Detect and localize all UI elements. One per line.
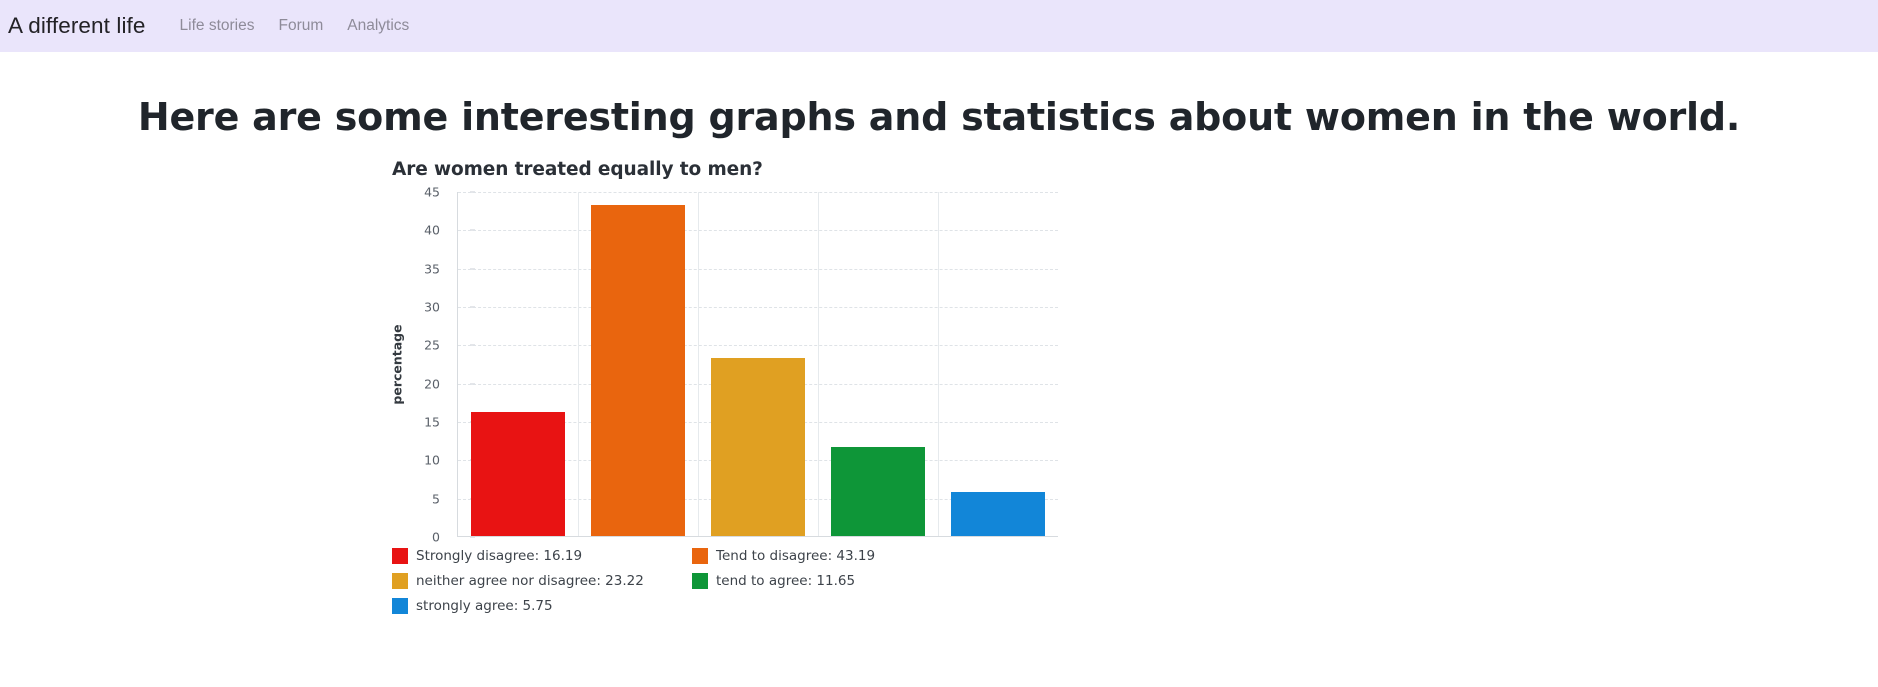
- legend-label: neither agree nor disagree: 23.22: [416, 573, 644, 589]
- legend-swatch: [692, 548, 708, 564]
- legend-label: Strongly disagree: 16.19: [416, 548, 582, 564]
- bar[interactable]: [951, 492, 1045, 536]
- chart-plot-region: percentage 051015202530354045: [392, 192, 1058, 537]
- y-tick-label: 10: [424, 453, 440, 468]
- legend-item[interactable]: Strongly disagree: 16.19: [392, 548, 692, 564]
- y-tick-label: 40: [424, 223, 440, 238]
- bar-cell: [938, 192, 1058, 536]
- y-tick-label: 30: [424, 300, 440, 315]
- bar-cell: [698, 192, 818, 536]
- legend-item[interactable]: tend to agree: 11.65: [692, 573, 992, 589]
- nav-link-life-stories[interactable]: Life stories: [168, 17, 267, 35]
- bar[interactable]: [471, 412, 565, 536]
- legend-item[interactable]: neither agree nor disagree: 23.22: [392, 573, 692, 589]
- top-navbar: A different life Life stories Forum Anal…: [0, 0, 1878, 52]
- bar-series: [458, 192, 1058, 536]
- nav-link-analytics[interactable]: Analytics: [335, 17, 421, 35]
- chart-container: Are women treated equally to men? percen…: [392, 159, 1092, 614]
- legend-swatch: [392, 548, 408, 564]
- y-axis-title: percentage: [388, 192, 406, 537]
- y-axis-title-label: percentage: [390, 324, 405, 404]
- legend-item[interactable]: strongly agree: 5.75: [392, 598, 692, 614]
- bar[interactable]: [831, 447, 925, 536]
- y-tick-label: 25: [424, 338, 440, 353]
- nav-links: Life stories Forum Analytics: [168, 17, 422, 35]
- bar-cell: [818, 192, 938, 536]
- bar-cell: [458, 192, 578, 536]
- page-title: Here are some interesting graphs and sta…: [0, 52, 1878, 139]
- plot-area: [457, 192, 1058, 537]
- nav-link-forum[interactable]: Forum: [266, 17, 335, 35]
- y-tick-label: 45: [424, 185, 440, 200]
- legend-swatch: [692, 573, 708, 589]
- bar[interactable]: [591, 205, 685, 536]
- bar-cell: [578, 192, 698, 536]
- y-tick-label: 35: [424, 261, 440, 276]
- bar[interactable]: [711, 358, 805, 536]
- y-tick-label: 0: [432, 530, 440, 545]
- legend-swatch: [392, 573, 408, 589]
- y-tick-label: 5: [432, 491, 440, 506]
- legend-label: strongly agree: 5.75: [416, 598, 553, 614]
- legend-label: tend to agree: 11.65: [716, 573, 855, 589]
- y-tick-label: 15: [424, 415, 440, 430]
- brand-logo-text[interactable]: A different life: [4, 13, 154, 39]
- y-tick-label: 20: [424, 376, 440, 391]
- chart-legend: Strongly disagree: 16.19Tend to disagree…: [392, 548, 952, 614]
- legend-item[interactable]: Tend to disagree: 43.19: [692, 548, 992, 564]
- y-axis-ticks: 051015202530354045: [410, 192, 446, 537]
- legend-label: Tend to disagree: 43.19: [716, 548, 875, 564]
- chart-title: Are women treated equally to men?: [392, 159, 1092, 180]
- legend-swatch: [392, 598, 408, 614]
